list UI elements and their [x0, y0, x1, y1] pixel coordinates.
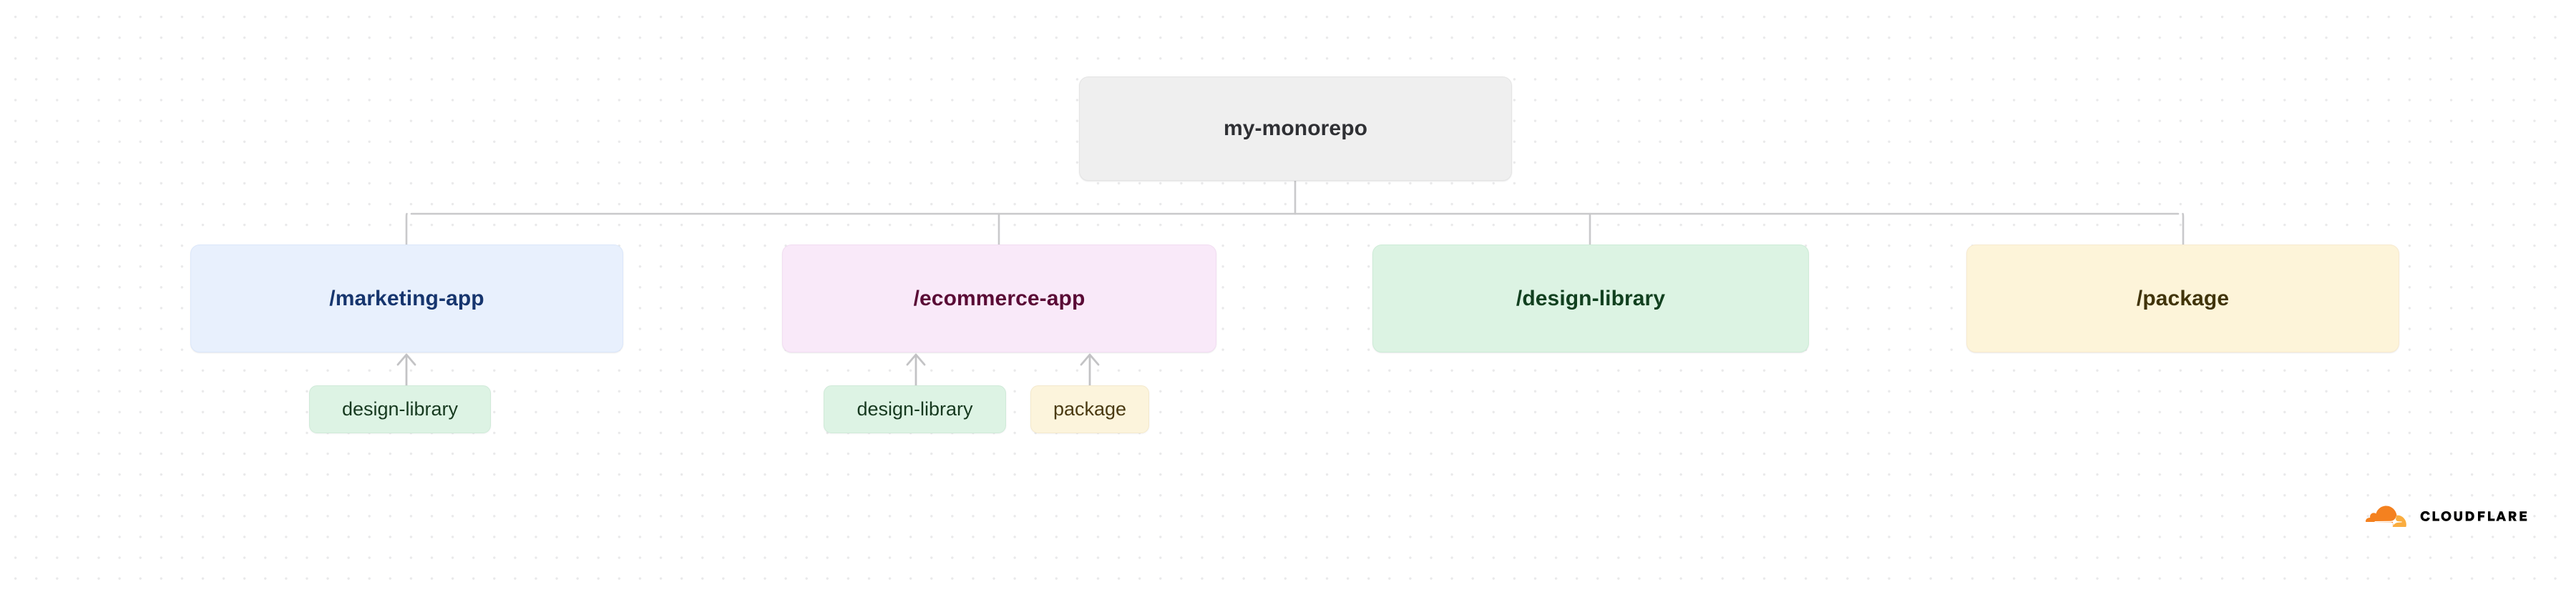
dependency-chip-design-library-marketing[interactable]: design-library — [309, 385, 491, 433]
cloudflare-cloud-icon — [2366, 505, 2410, 527]
node-label: my-monorepo — [1224, 117, 1367, 141]
connector-drop-package — [2183, 214, 2184, 245]
node-label: /design-library — [1516, 287, 1665, 311]
node-my-monorepo[interactable]: my-monorepo — [1079, 77, 1512, 181]
dep-arrow-ecommerce-package — [1081, 355, 1098, 385]
dependency-chip-label: design-library — [857, 398, 972, 420]
diagram-canvas: my-monorepo /marketing-app /ecommerce-ap… — [6, 6, 2570, 586]
dep-arrow-marketing-design-library — [398, 355, 415, 385]
connector-drop-marketing — [406, 214, 407, 245]
cloudflare-wordmark — [2418, 508, 2544, 524]
node-ecommerce-app[interactable]: /ecommerce-app — [782, 245, 1216, 352]
diagram-stage: my-monorepo /marketing-app /ecommerce-ap… — [0, 0, 2576, 592]
node-label: /ecommerce-app — [914, 287, 1085, 311]
dependency-chip-package-ecommerce[interactable]: package — [1030, 385, 1149, 433]
dependency-chip-design-library-ecommerce[interactable]: design-library — [824, 385, 1006, 433]
cloudflare-logo — [2366, 498, 2545, 535]
dep-arrow-ecommerce-design-library — [907, 355, 924, 385]
node-marketing-app[interactable]: /marketing-app — [190, 245, 623, 352]
node-package[interactable]: /package — [1966, 245, 2399, 352]
dependency-chip-label: package — [1053, 398, 1126, 420]
node-label: /marketing-app — [329, 287, 484, 311]
node-label: /package — [2137, 287, 2229, 311]
dependency-chip-label: design-library — [342, 398, 458, 420]
node-design-library[interactable]: /design-library — [1372, 245, 1809, 352]
